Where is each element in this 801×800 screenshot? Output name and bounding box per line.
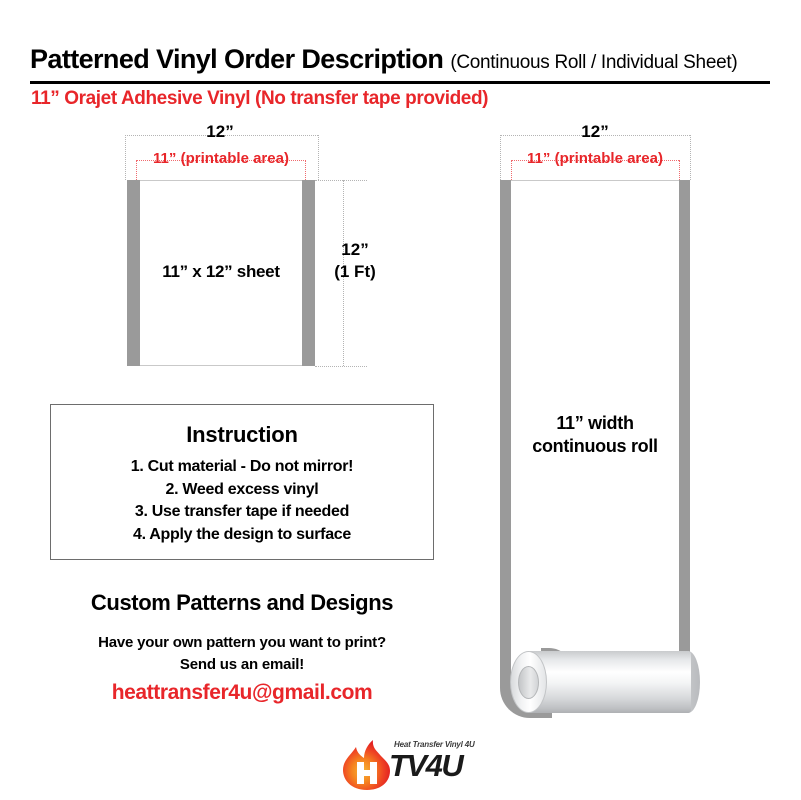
roll-dim-12-left-tick (500, 135, 501, 180)
roll-dim-12-right-tick (690, 135, 691, 180)
custom-patterns-title: Custom Patterns and Designs (50, 590, 434, 616)
custom-patterns-subtitle: Have your own pattern you want to print?… (40, 632, 444, 676)
roll-width-label: 12” (555, 122, 635, 142)
roll-caption: 11” width continuous roll (511, 412, 679, 457)
sheet-height-label: 12” (320, 240, 390, 260)
list-item: 1. Cut material - Do not mirror! (51, 456, 433, 479)
header: Patterned Vinyl Order Description (Conti… (30, 44, 770, 75)
roll-tube-core-hole (518, 666, 539, 699)
flame-icon (337, 739, 397, 795)
htv4u-logo: Heat Transfer Vinyl 4U TV4U (337, 735, 477, 791)
roll-caption-line1: 11” width (511, 412, 679, 435)
roll-right-margin-band (679, 180, 690, 665)
sheet-height-bottom-tick (315, 366, 367, 367)
contact-email[interactable]: heattransfer4u@gmail.com (40, 681, 444, 705)
sheet-dim-12-right-tick (318, 135, 319, 180)
page-title: Patterned Vinyl Order Description (Conti… (30, 44, 770, 75)
list-item: 4. Apply the design to surface (51, 524, 433, 547)
roll-printable-label: 11” (printable area) (505, 150, 685, 167)
roll-caption-line2: continuous roll (511, 435, 679, 458)
roll-tube-body (528, 651, 691, 713)
roll-left-margin-band (500, 180, 511, 665)
sheet-caption: 11” x 12” sheet (127, 262, 315, 282)
instruction-list: 1. Cut material - Do not mirror! 2. Weed… (51, 456, 433, 547)
page-title-sub: (Continuous Roll / Individual Sheet) (450, 52, 737, 74)
list-item: 2. Weed excess vinyl (51, 479, 433, 502)
list-item: 3. Use transfer tape if needed (51, 501, 433, 524)
header-divider (30, 81, 770, 84)
custom-patterns-subtitle-line2: Send us an email! (40, 654, 444, 676)
sheet-printable-label: 11” (printable area) (130, 150, 312, 167)
logo-wordmark: TV4U (389, 748, 462, 784)
sheet-dim-12-left-tick (125, 135, 126, 180)
product-subtitle: 11” Orajet Adhesive Vinyl (No transfer t… (31, 88, 488, 110)
custom-patterns-subtitle-line1: Have your own pattern you want to print? (40, 632, 444, 654)
order-description-graphic: Patterned Vinyl Order Description (Conti… (0, 0, 801, 800)
sheet-width-label: 12” (180, 122, 260, 142)
instruction-box: Instruction 1. Cut material - Do not mir… (50, 404, 434, 560)
page-title-main: Patterned Vinyl Order Description (30, 44, 443, 75)
instruction-title: Instruction (51, 422, 433, 448)
sheet-height-top-tick (315, 180, 367, 181)
sheet-height-sublabel: (1 Ft) (320, 262, 390, 282)
